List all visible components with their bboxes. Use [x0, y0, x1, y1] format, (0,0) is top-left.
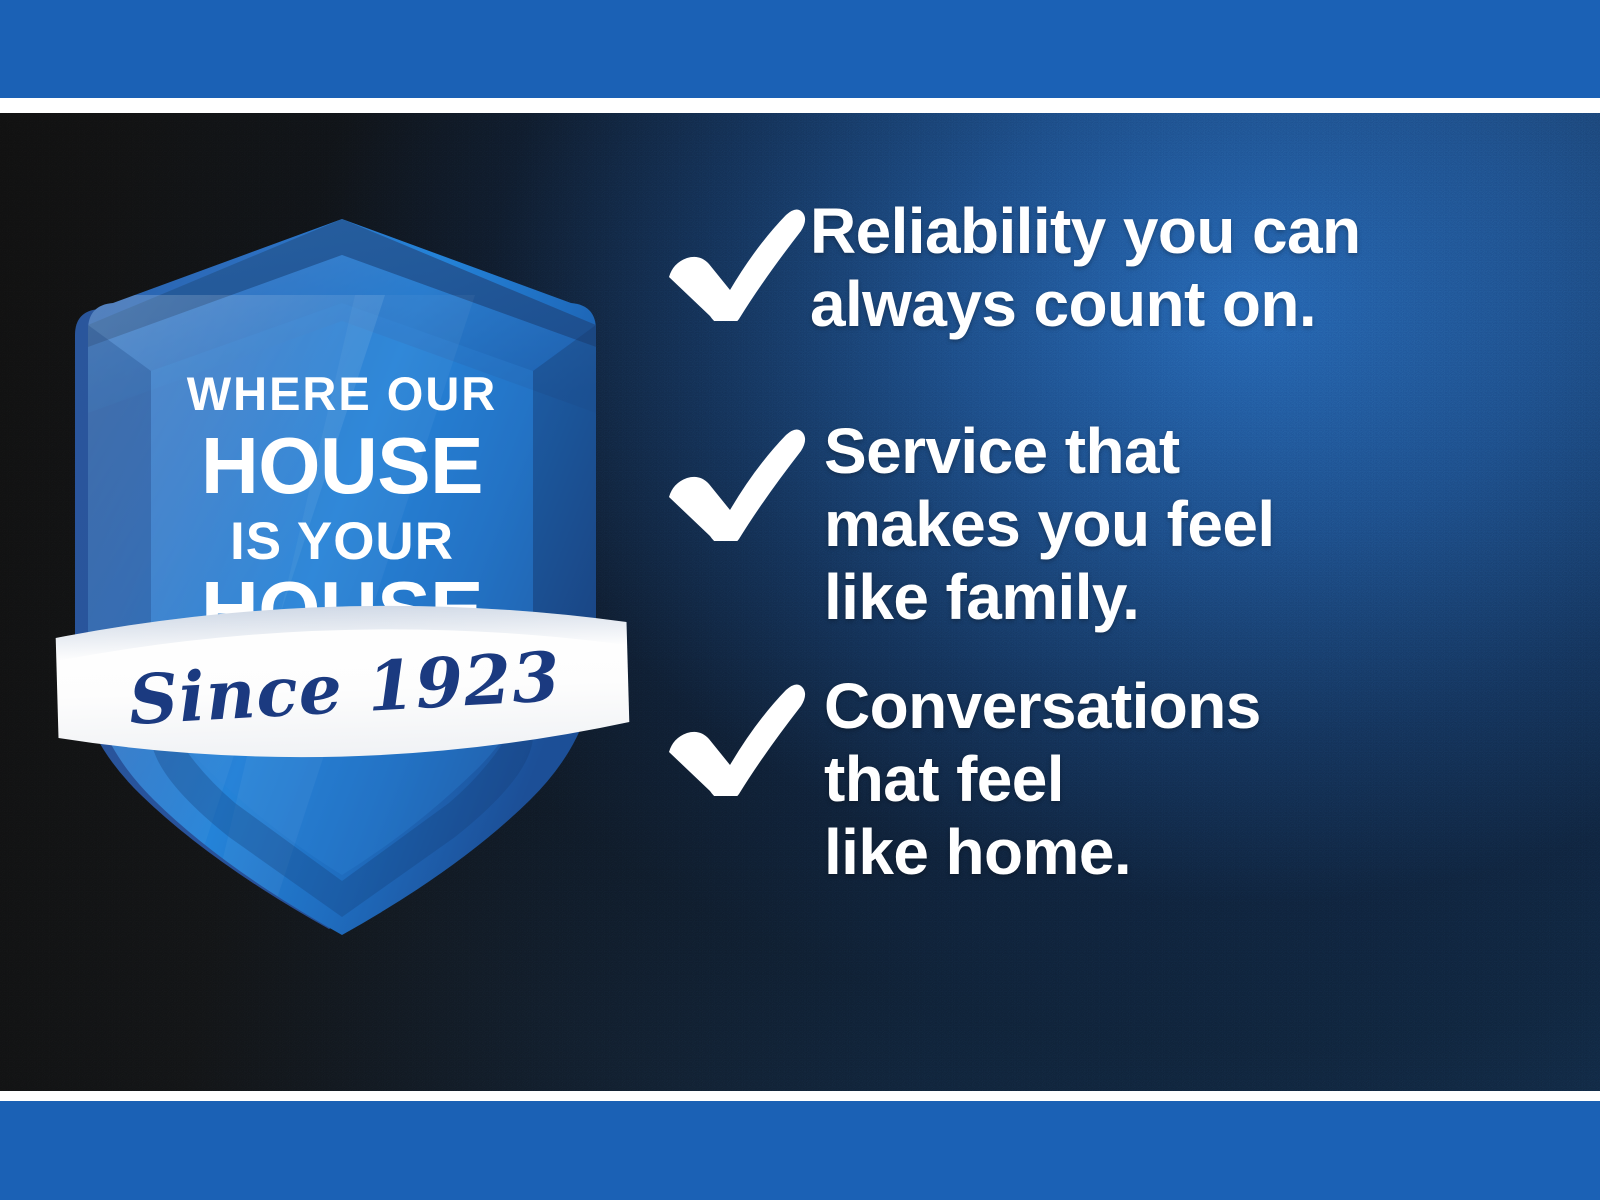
- list-item: Conversations that feel like home.: [660, 670, 1540, 889]
- list-item: Service that makes you feel like family.: [660, 415, 1540, 634]
- checkmark-icon: [660, 676, 810, 796]
- badge-line-3: IS YOUR: [230, 512, 454, 571]
- list-item-text: Service that makes you feel like family.: [810, 415, 1540, 634]
- benefits-list: Reliability you can always count on. Ser…: [660, 195, 1540, 889]
- top-brand-bar: [0, 0, 1600, 98]
- checkmark-icon: [660, 421, 810, 541]
- badge-line-1: WHERE OUR: [187, 367, 497, 420]
- checkmark-icon: [660, 201, 810, 321]
- shield-badge-logo: WHERE OUR HOUSE IS YOUR HOUSE Since 1923: [55, 175, 630, 840]
- list-item: Reliability you can always count on.: [660, 195, 1540, 341]
- badge-line-2: HOUSE: [201, 421, 483, 510]
- list-item-text: Conversations that feel like home.: [810, 670, 1540, 889]
- bottom-brand-bar: [0, 1101, 1600, 1200]
- promo-banner: WHERE OUR HOUSE IS YOUR HOUSE Since 1923…: [0, 0, 1600, 1200]
- list-item-text: Reliability you can always count on.: [810, 195, 1540, 341]
